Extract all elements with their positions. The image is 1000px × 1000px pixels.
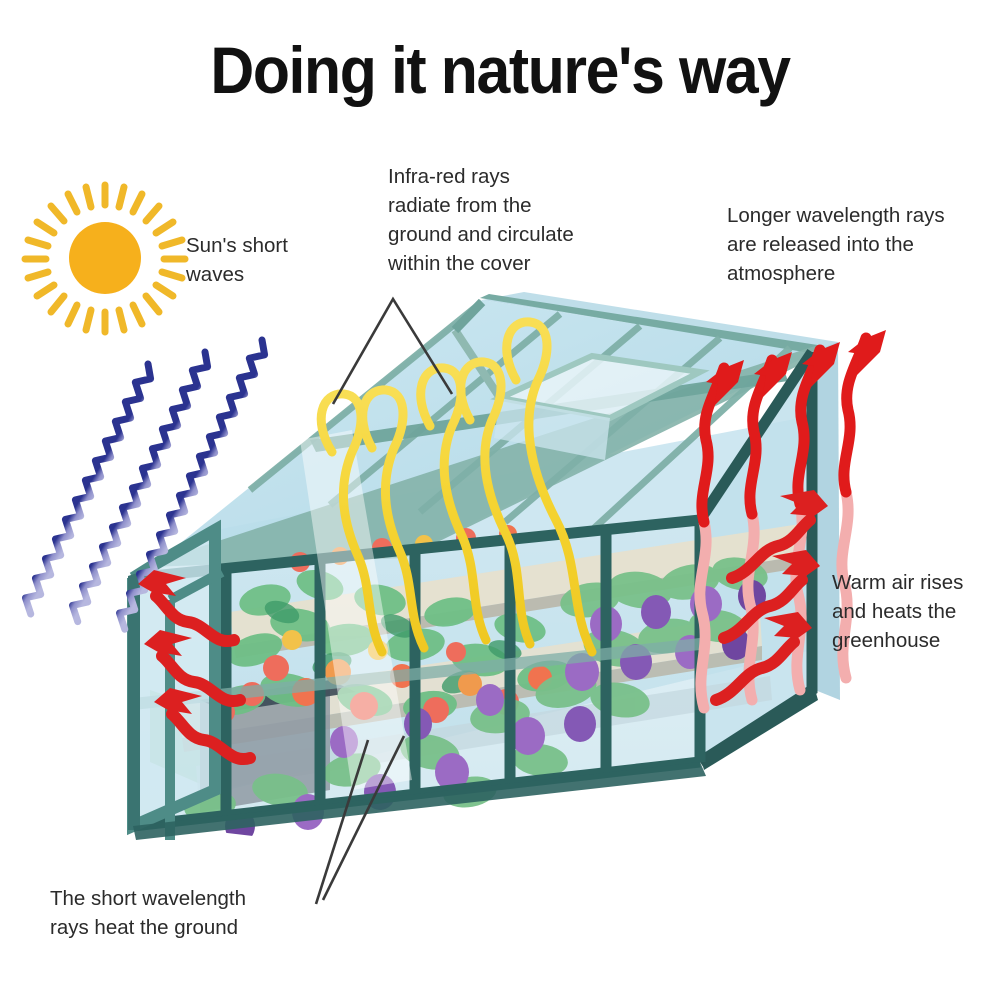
- label-suns-short-waves: Sun's short waves: [186, 231, 356, 289]
- sun-icon: [25, 185, 185, 332]
- label-infrared-rays: Infra-red rays radiate from the ground a…: [388, 162, 623, 278]
- label-short-wavelength-rays: The short wavelength rays heat the groun…: [50, 884, 350, 942]
- page-title: Doing it nature's way: [40, 34, 960, 106]
- infographic-canvas: Doing it nature's way Sun's short waves …: [0, 0, 1000, 1000]
- greenhouse-illustration: [0, 0, 1000, 1000]
- label-longer-wavelength: Longer wavelength rays are released into…: [727, 201, 977, 288]
- label-warm-air-rises: Warm air rises and heats the greenhouse: [832, 568, 1000, 655]
